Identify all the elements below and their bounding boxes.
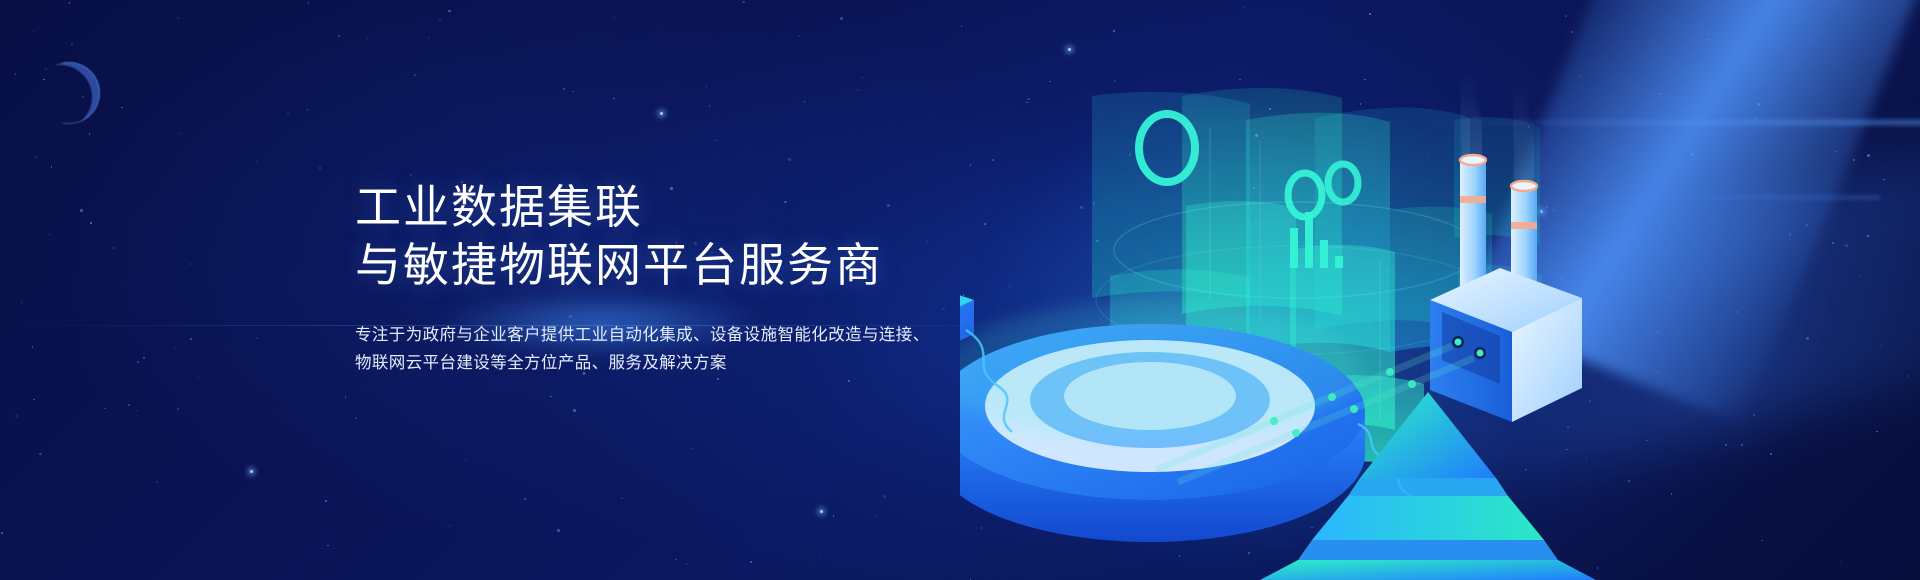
factory-indicator-led-1 <box>1455 339 1462 346</box>
pyramid-gap-2 <box>1298 540 1558 560</box>
data-beam-dot-2 <box>1328 393 1336 401</box>
data-beam-dot-6 <box>1292 429 1300 437</box>
moon-crescent-icon <box>38 62 100 124</box>
pyramid-tier-2 <box>1312 496 1544 540</box>
hero-copy: 工业数据集联 与敏捷物联网平台服务商 专注于为政府与企业客户提供工业自动化集成、… <box>355 178 995 377</box>
pyramid-gap-1 <box>1348 478 1508 496</box>
smokestack-1-band <box>1460 196 1486 203</box>
subcopy-line-2: 物联网云平台建设等全方位产品、服务及解决方案 <box>355 349 995 377</box>
data-beam-dot-4 <box>1408 380 1416 388</box>
data-beam-dot-3 <box>1270 417 1278 425</box>
headline-line-2: 与敏捷物联网平台服务商 <box>355 236 995 294</box>
data-beam-dot-5 <box>1350 405 1358 413</box>
data-beam-dot-1 <box>1386 368 1394 376</box>
smokestack-2-band <box>1511 222 1537 229</box>
headline-line-1: 工业数据集联 <box>355 178 995 236</box>
subcopy-line-1: 专注于为政府与企业客户提供工业自动化集成、设备设施智能化改造与连接、 <box>355 321 995 349</box>
pyramid-tier-3 <box>1260 560 1596 580</box>
illustration-industrial-iot <box>960 0 1920 580</box>
glowing-platform <box>960 302 1365 542</box>
factory-indicator-led-2 <box>1477 350 1484 357</box>
subcopy: 专注于为政府与企业客户提供工业自动化集成、设备设施智能化改造与连接、 物联网云平… <box>355 321 995 377</box>
hero-banner: 工业数据集联 与敏捷物联网平台服务商 专注于为政府与企业客户提供工业自动化集成、… <box>0 0 1920 580</box>
